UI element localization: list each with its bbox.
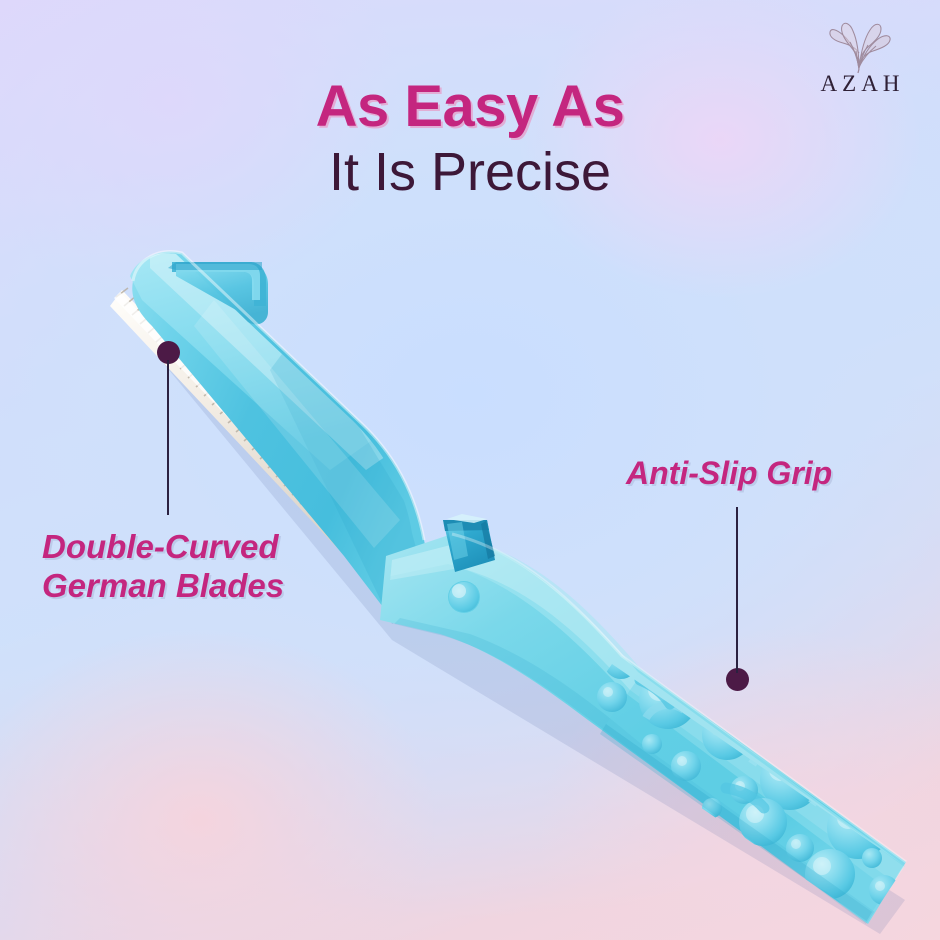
callout-line-blades	[167, 360, 169, 515]
brand-name: AZAH	[816, 72, 905, 95]
callout-label-blades-line2: German Blades	[42, 567, 284, 606]
brand-logo: AZAH	[802, 16, 918, 108]
callout-label-blades-line1: Double-Curved	[42, 528, 284, 567]
callout-label-grip: Anti-Slip Grip	[626, 455, 832, 493]
product-infographic: AZAH As Easy As It Is Precise Double-Cur…	[0, 0, 940, 940]
ginkgo-leaf-icon	[823, 16, 897, 74]
callout-label-blades: Double-Curved German Blades	[42, 528, 284, 606]
callout-line-grip	[736, 507, 738, 673]
razor-dimple	[448, 581, 480, 613]
